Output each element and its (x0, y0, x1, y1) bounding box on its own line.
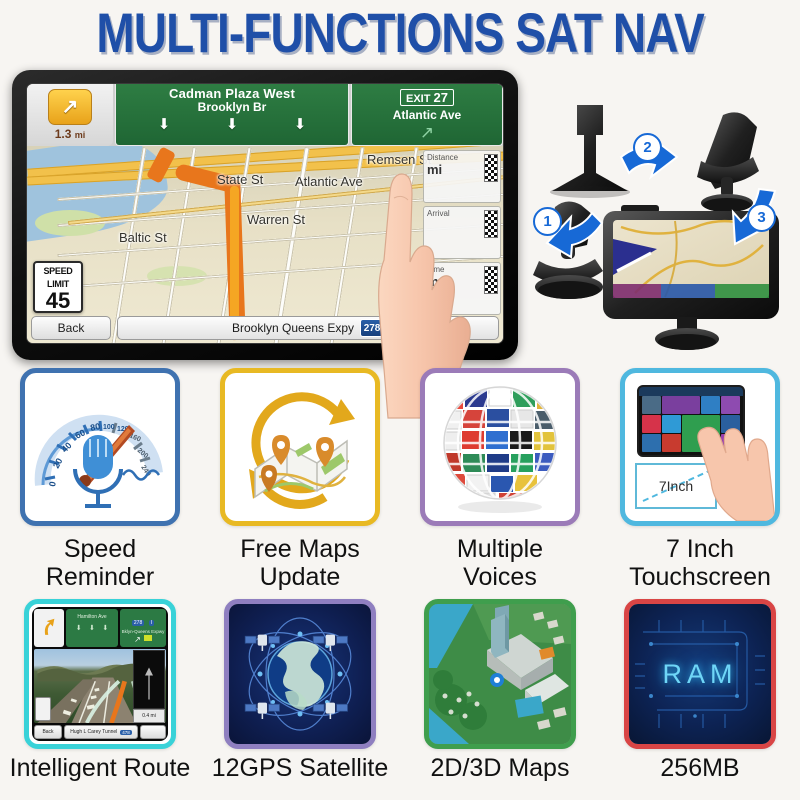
svg-text:0: 0 (47, 481, 58, 488)
feature-label-line1: 2D/3D Maps (431, 755, 570, 782)
lane-arrow-down-icon: ⬇ (158, 117, 171, 132)
route-path-core (230, 186, 239, 336)
city-3d-map-icon (429, 604, 571, 744)
junction-shield: 478 (120, 730, 132, 735)
checkered-flag-icon (484, 210, 498, 238)
speed-limit-caption-1: SPEED (35, 266, 81, 276)
highway-exit-icon: ↗ (48, 89, 92, 125)
feature-speed-reminder[interactable]: 0 20 40 60 80 100120 160 200 240 (0, 368, 200, 591)
speed-limit-value: 45 (35, 290, 81, 312)
junction-street-name: Hugh L Carey Tunnel (70, 729, 117, 735)
touchscreen-hand-icon: 7Inch (625, 373, 775, 521)
junction-sign-bar: Hamilton Ave ⬇ ⬇ ⬇ 278 I (34, 609, 166, 647)
primary-road-sign: Cadman Plaza West Brooklyn Br ⬇ ⬇ ⬇ (115, 84, 349, 146)
feature-card[interactable] (420, 368, 580, 526)
device-bezel: ↗ 1.3 mi Cadman Plaza West Brooklyn Br ⬇… (26, 83, 504, 344)
exit-road-sign: EXIT 27 Atlantic Ave ↗ (351, 84, 503, 146)
junction-info-button[interactable] (140, 725, 166, 739)
map-label: Baltic St (119, 230, 167, 245)
folded-map-refresh-icon (225, 373, 375, 521)
page-title: MULTI-FUNCTIONS SAT NAV (0, 2, 800, 64)
flag-globe-icon (425, 373, 575, 521)
feature-label-line2: Touchscreen (629, 563, 771, 591)
junction-3d-view: 0.4 mi (34, 649, 166, 723)
map-bottom-bar: Back Brooklyn Queens Expy 278 (27, 315, 503, 341)
exit-label: EXIT (406, 93, 430, 105)
ram-chip-icon: RAM (629, 604, 771, 744)
navigation-sign-bar: ↗ 1.3 mi Cadman Plaza West Brooklyn Br ⬇… (27, 84, 503, 146)
map-label: Warren St (247, 212, 305, 227)
turn-distance-box: ↗ 1.3 mi (27, 84, 113, 146)
feature-label-line2: Voices (457, 563, 543, 591)
exit-number: 27 (434, 90, 448, 105)
touching-hand-illustration (625, 373, 775, 521)
feature-label-line1: Free Maps (240, 535, 359, 563)
exit-badge: EXIT 27 (400, 89, 454, 106)
svg-text:80: 80 (89, 421, 101, 433)
feature-label-line1: Multiple (457, 535, 543, 563)
feature-label-line1: 7 Inch (629, 535, 771, 563)
feature-multiple-voices[interactable]: Multiple Voices (400, 368, 600, 591)
cradle-bracket-part (550, 105, 630, 198)
feature-label-line1: Speed (46, 535, 154, 563)
feature-card[interactable]: RAM (624, 599, 776, 749)
feature-row-2: Hamilton Ave ⬇ ⬇ ⬇ 278 I (0, 599, 800, 782)
trip-info-box[interactable]: Arrival (423, 206, 501, 259)
junction-bottom-bar: Back Hugh L Carey Tunnel 478 (34, 725, 166, 739)
turn-distance-unit: mi (75, 130, 86, 140)
junction-turn-icon (34, 609, 64, 647)
junction-view-icon: Hamilton Ave ⬇ ⬇ ⬇ 278 I (32, 607, 168, 741)
sign-line-2: Brooklyn Br (116, 101, 348, 114)
feature-card[interactable] (220, 368, 380, 526)
feature-ram-256mb[interactable]: RAM 256MB (600, 599, 800, 782)
feature-2d-3d-maps[interactable]: 2D/3D Maps (400, 599, 600, 782)
feature-label-line1: 256MB (660, 755, 739, 782)
turn-distance-value: 1.3 (55, 127, 72, 141)
page-title-text: MULTI-FUNCTIONS SAT NAV (96, 1, 703, 66)
speedometer-microphone-icon: 0 20 40 60 80 100120 160 200 240 (25, 373, 175, 521)
feature-label-line1: 12GPS Satellite (212, 755, 389, 782)
assembly-step-3: 3 (747, 203, 776, 232)
back-button[interactable]: Back (31, 316, 111, 340)
feature-label: Free Maps Update (240, 535, 359, 591)
feature-card[interactable] (424, 599, 576, 749)
feature-card[interactable] (224, 599, 376, 749)
route-shield-icon: 278 (360, 319, 384, 337)
feature-card[interactable]: 7Inch (620, 368, 780, 526)
trip-info-panel[interactable]: Distance mi Arrival Time m (423, 150, 501, 315)
sign-line-1: Cadman Plaza West (116, 87, 348, 101)
speed-limit-sign: SPEED LIMIT 45 (33, 261, 83, 313)
lane-arrow-down-icon: ⬇ (226, 117, 239, 132)
checkered-flag-icon (484, 154, 498, 182)
junction-sign-right: 278 I Bklyn-Queens Expwy ↗ (120, 609, 166, 647)
feature-label: Speed Reminder (46, 535, 154, 591)
feature-card[interactable]: Hamilton Ave ⬇ ⬇ ⬇ 278 I (24, 599, 176, 749)
feature-row-1: 0 20 40 60 80 100120 160 200 240 (0, 368, 800, 591)
junction-distance: 0.4 mi (133, 709, 165, 723)
current-street-bar[interactable]: Brooklyn Queens Expy 278 (117, 316, 499, 340)
turn-distance: 1.3 mi (55, 127, 86, 141)
feature-free-maps-update[interactable]: Free Maps Update (200, 368, 400, 591)
feature-label: Intelligent Route (10, 755, 191, 782)
assembled-mount-part (697, 112, 759, 212)
exit-road-name: Atlantic Ave (352, 109, 502, 122)
junction-street-bar: Hugh L Carey Tunnel 478 (64, 725, 138, 739)
feature-gps-satellite[interactable]: 12GPS Satellite (200, 599, 400, 782)
exit-arrow-up-right-icon: ↗ (352, 124, 502, 141)
feature-7inch-touchscreen[interactable]: 7Inch 7 Inch Touchscreen (600, 368, 800, 591)
feature-label: 256MB (660, 755, 739, 782)
lane-arrows: ⬇ ⬇ ⬇ (116, 117, 348, 132)
feature-label-line1: Intelligent Route (10, 755, 191, 782)
gps-device-hero: ↗ 1.3 mi Cadman Plaza West Brooklyn Br ⬇… (12, 70, 518, 360)
feature-label-line2: Reminder (46, 563, 154, 591)
feature-label-line2: Update (240, 563, 359, 591)
map-label: State St (217, 172, 263, 187)
navigation-screen[interactable]: ↗ 1.3 mi Cadman Plaza West Brooklyn Br ⬇… (27, 84, 503, 343)
satellite-globe-icon (229, 604, 371, 744)
feature-grid: 0 20 40 60 80 100120 160 200 240 (0, 368, 800, 782)
feature-intelligent-route[interactable]: Hamilton Ave ⬇ ⬇ ⬇ 278 I (0, 599, 200, 782)
feature-label: Multiple Voices (457, 535, 543, 591)
feature-label: 7 Inch Touchscreen (629, 535, 771, 591)
feature-label: 12GPS Satellite (212, 755, 389, 782)
feature-card[interactable]: 0 20 40 60 80 100120 160 200 240 (20, 368, 180, 526)
checkered-flag-icon (484, 266, 498, 294)
assembly-step-1: 1 (533, 207, 562, 236)
mount-assembly-diagram: 1 2 3 (525, 95, 797, 360)
trip-info-box[interactable]: Distance mi (423, 150, 501, 203)
trip-info-box[interactable]: Time m (423, 262, 501, 315)
satellite-icon (245, 703, 279, 719)
svg-text:100: 100 (103, 424, 115, 431)
junction-back-button[interactable]: Back (34, 725, 62, 739)
assembly-step-2: 2 (633, 133, 662, 162)
ram-chip-text: RAM (629, 604, 771, 744)
junction-sign-left: Hamilton Ave ⬇ ⬇ ⬇ (66, 609, 118, 647)
product-infographic: MULTI-FUNCTIONS SAT NAV ↗ 1.3 mi Cadman … (0, 0, 800, 800)
current-street-name: Brooklyn Queens Expy (232, 321, 354, 335)
lane-arrow-down-icon: ⬇ (294, 117, 307, 132)
map-label: Atlantic Ave (295, 174, 363, 189)
map-label: Remsen St (367, 152, 431, 167)
feature-label: 2D/3D Maps (431, 755, 570, 782)
satellite-icon (313, 703, 347, 719)
map-canvas[interactable]: Remsen St State St Atlantic Ave Warren S… (27, 146, 503, 343)
